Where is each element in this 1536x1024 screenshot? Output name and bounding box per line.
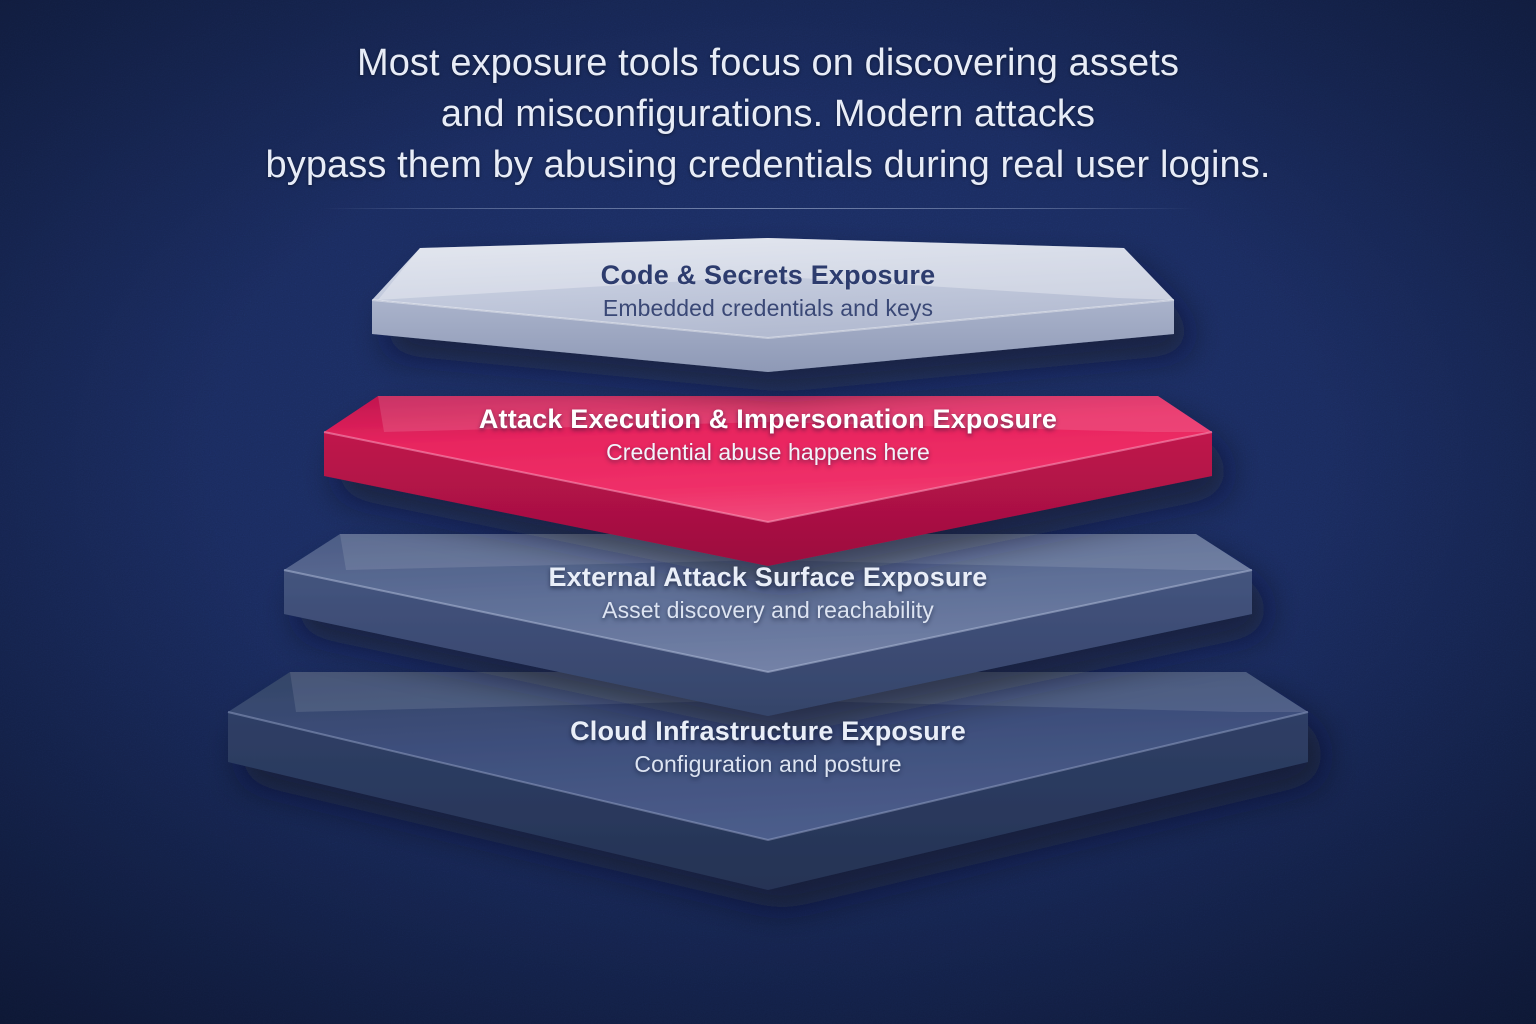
pyramid-layer-code-and-secrets[interactable] — [372, 238, 1174, 372]
headline-line-3: bypass them by abusing credentials durin… — [0, 140, 1536, 191]
headline-line-1: Most exposure tools focus on discovering… — [0, 38, 1536, 89]
headline-divider — [322, 208, 1196, 209]
infographic-canvas: Most exposure tools focus on discovering… — [0, 0, 1536, 1024]
headline-line-2: and misconfigurations. Modern attacks — [0, 89, 1536, 140]
headline-block: Most exposure tools focus on discovering… — [0, 38, 1536, 191]
